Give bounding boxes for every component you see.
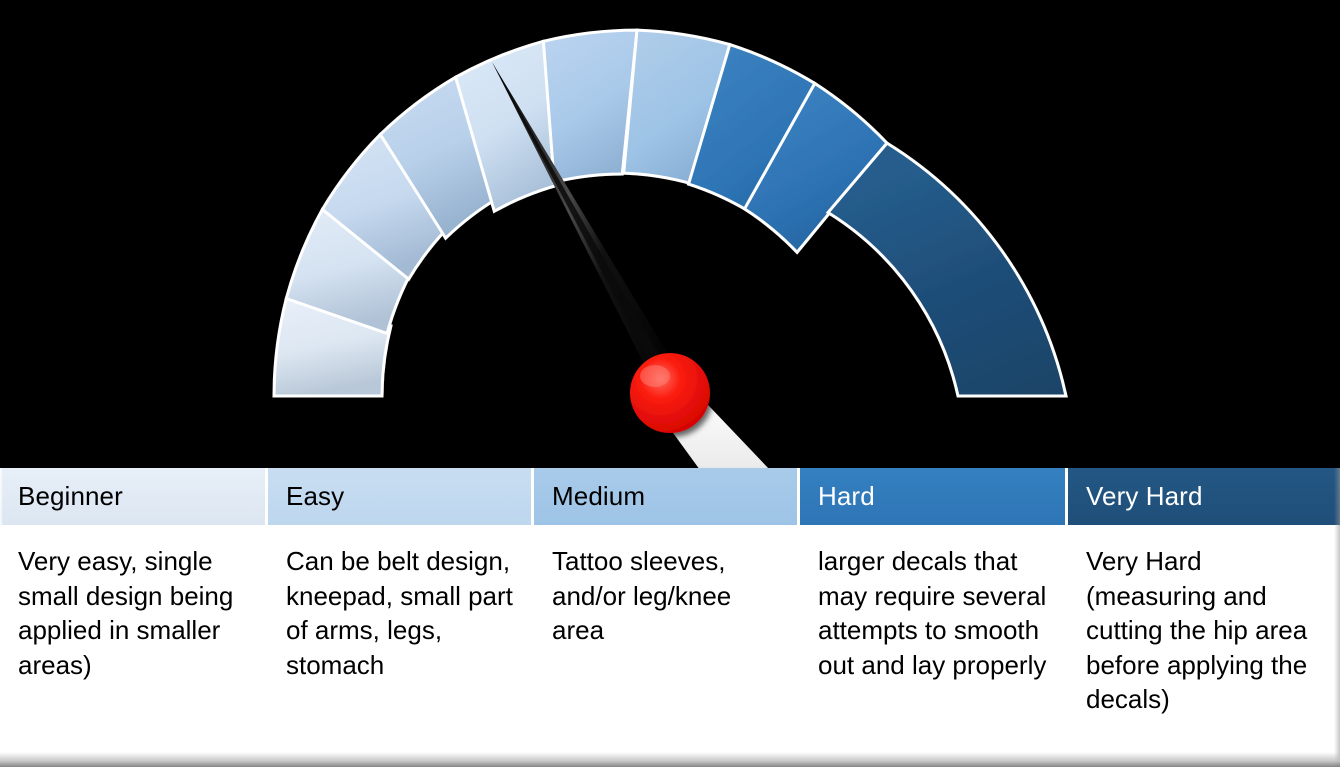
- table-header-medium[interactable]: Medium: [534, 468, 800, 528]
- gauge-segment-10: [828, 143, 1066, 396]
- table-cell-easy-description[interactable]: Can be belt design, kneepad, small part …: [268, 528, 534, 767]
- difficulty-legend-table: Beginner Easy Medium Hard Very Hard Very…: [0, 468, 1340, 767]
- table-cell-beginner-description[interactable]: Very easy, single small design being app…: [0, 528, 268, 767]
- needle-hub: [630, 353, 710, 433]
- table-cell-hard-description[interactable]: larger decals that may require several a…: [800, 528, 1068, 767]
- gauge-svg: [0, 0, 1340, 470]
- table-header-very-hard[interactable]: Very Hard: [1068, 468, 1340, 528]
- gauge-segment-6: [543, 30, 637, 182]
- gauge-band: [274, 30, 1066, 396]
- table-header-row: Beginner Easy Medium Hard Very Hard: [0, 468, 1340, 528]
- gauge-region: [0, 0, 1340, 470]
- table-body-row: Very easy, single small design being app…: [0, 528, 1340, 767]
- table-header-hard[interactable]: Hard: [800, 468, 1068, 528]
- table-cell-medium-description[interactable]: Tattoo sleeves, and/or leg/knee area: [534, 528, 800, 767]
- table-header-beginner[interactable]: Beginner: [0, 468, 268, 528]
- table-cell-very-hard-description[interactable]: Very Hard (measuring and cutting the hip…: [1068, 528, 1340, 767]
- slide-canvas: Beginner Easy Medium Hard Very Hard Very…: [0, 0, 1340, 767]
- table-header-easy[interactable]: Easy: [268, 468, 534, 528]
